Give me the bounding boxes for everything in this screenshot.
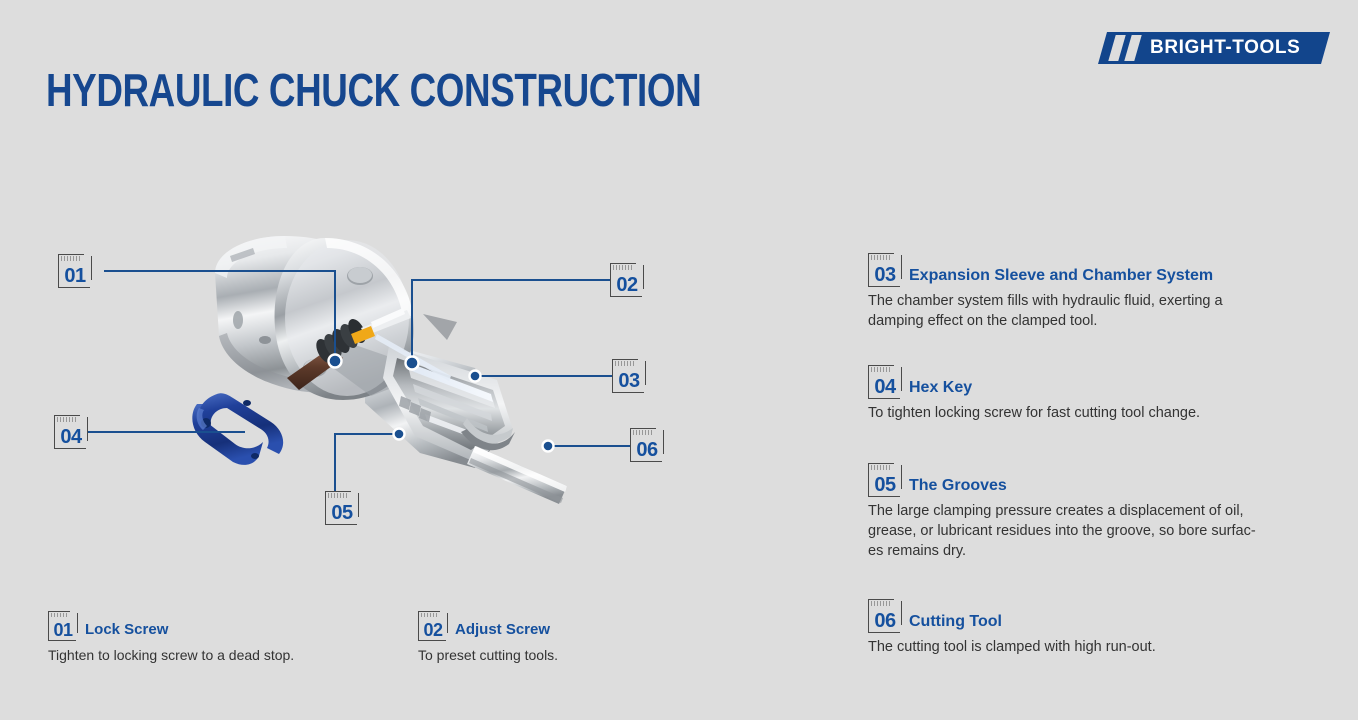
badge-corner-gap xyxy=(440,610,449,613)
section-title: Adjust Screw xyxy=(455,621,550,639)
section-heading-row: 03 Expansion Sleeve and Chamber System xyxy=(868,253,1338,287)
section-body: The large clamping pressure creates a di… xyxy=(868,501,1338,561)
badge-number: 03 xyxy=(868,264,902,286)
badge-number: 02 xyxy=(610,274,644,296)
badge-03: 03 xyxy=(612,359,646,393)
badge-corner-gap xyxy=(894,252,903,255)
badge-ticks-icon xyxy=(613,265,633,270)
badge-ticks-icon xyxy=(871,465,891,470)
badge-ticks-icon xyxy=(421,613,438,617)
badge-ticks-icon xyxy=(57,417,77,422)
section-title: Lock Screw xyxy=(85,621,168,639)
section-heading-row: 02 Adjust Screw xyxy=(418,611,718,641)
callout-badge-05[interactable]: 05 xyxy=(325,491,359,525)
badge-ticks-icon xyxy=(51,613,68,617)
badge-corner-gap xyxy=(638,358,647,361)
badge-corner-gap xyxy=(636,262,645,265)
badge-ticks-icon xyxy=(615,361,635,366)
badge-corner-gap xyxy=(894,598,903,601)
badge-ticks-icon xyxy=(871,367,891,372)
badge-06-section: 06 xyxy=(868,599,902,633)
badge-corner-gap xyxy=(894,462,903,465)
badge-corner-gap xyxy=(656,427,665,430)
badge-corner-gap xyxy=(351,490,360,493)
badge-number: 02 xyxy=(418,621,448,640)
badge-number: 05 xyxy=(868,474,902,496)
section-title: Hex Key xyxy=(909,379,972,397)
section-05: 05 The Grooves The large clamping pressu… xyxy=(868,463,1338,561)
badge-number: 04 xyxy=(54,426,88,448)
badge-ticks-icon xyxy=(633,430,653,435)
badge-corner-gap xyxy=(80,414,89,417)
section-body: Tighten to locking screw to a dead stop. xyxy=(48,645,388,665)
section-heading-row: 05 The Grooves xyxy=(868,463,1338,497)
product-illustration xyxy=(175,218,595,508)
badge-06: 06 xyxy=(630,428,664,462)
badge-ticks-icon xyxy=(328,493,348,498)
section-body: To preset cutting tools. xyxy=(418,645,718,665)
section-body: The chamber system fills with hydraulic … xyxy=(868,291,1338,331)
brand-logo: BRIGHT-TOOLS xyxy=(1098,32,1330,64)
section-title: Expansion Sleeve and Chamber System xyxy=(909,267,1213,285)
badge-03-section: 03 xyxy=(868,253,902,287)
section-title: The Grooves xyxy=(909,477,1007,495)
badge-corner-gap xyxy=(84,253,93,256)
badge-number: 06 xyxy=(630,439,664,461)
section-heading-row: 01 Lock Screw xyxy=(48,611,388,641)
badge-number: 03 xyxy=(612,370,646,392)
section-01: 01 Lock Screw Tighten to locking screw t… xyxy=(48,611,388,665)
section-02: 02 Adjust Screw To preset cutting tools. xyxy=(418,611,718,665)
callout-badge-02[interactable]: 02 xyxy=(610,263,644,297)
section-04: 04 Hex Key To tighten locking screw for … xyxy=(868,365,1338,423)
section-heading-row: 04 Hex Key xyxy=(868,365,1338,399)
badge-corner-gap xyxy=(70,610,79,613)
badge-02-section: 02 xyxy=(418,611,448,641)
badge-number: 05 xyxy=(325,502,359,524)
badge-04: 04 xyxy=(54,415,88,449)
section-body: To tighten locking screw for fast cuttin… xyxy=(868,403,1338,423)
badge-05-section: 05 xyxy=(868,463,902,497)
badge-corner-gap xyxy=(894,364,903,367)
badge-01: 01 xyxy=(58,254,92,288)
badge-01-section: 01 xyxy=(48,611,78,641)
section-03: 03 Expansion Sleeve and Chamber System T… xyxy=(868,253,1338,331)
section-title: Cutting Tool xyxy=(909,613,1002,631)
badge-ticks-icon xyxy=(61,256,81,261)
badge-05: 05 xyxy=(325,491,359,525)
badge-04-section: 04 xyxy=(868,365,902,399)
badge-number: 06 xyxy=(868,610,902,632)
section-body: The cutting tool is clamped with high ru… xyxy=(868,637,1338,657)
badge-ticks-icon xyxy=(871,255,891,260)
badge-number: 01 xyxy=(58,265,92,287)
section-06: 06 Cutting Tool The cutting tool is clam… xyxy=(868,599,1338,657)
logo-wordmark: BRIGHT-TOOLS xyxy=(1150,32,1300,64)
page-title: HYDRAULIC CHUCK CONSTRUCTION xyxy=(46,63,701,117)
badge-ticks-icon xyxy=(871,601,891,606)
badge-02: 02 xyxy=(610,263,644,297)
callout-badge-04[interactable]: 04 xyxy=(54,415,88,449)
badge-number: 01 xyxy=(48,621,78,640)
callout-badge-01[interactable]: 01 xyxy=(58,254,92,288)
infographic-page: BRIGHT-TOOLS HYDRAULIC CHUCK CONSTRUCTIO… xyxy=(0,0,1358,720)
callout-badge-06[interactable]: 06 xyxy=(630,428,664,462)
badge-number: 04 xyxy=(868,376,902,398)
section-heading-row: 06 Cutting Tool xyxy=(868,599,1338,633)
callout-badge-03[interactable]: 03 xyxy=(612,359,646,393)
